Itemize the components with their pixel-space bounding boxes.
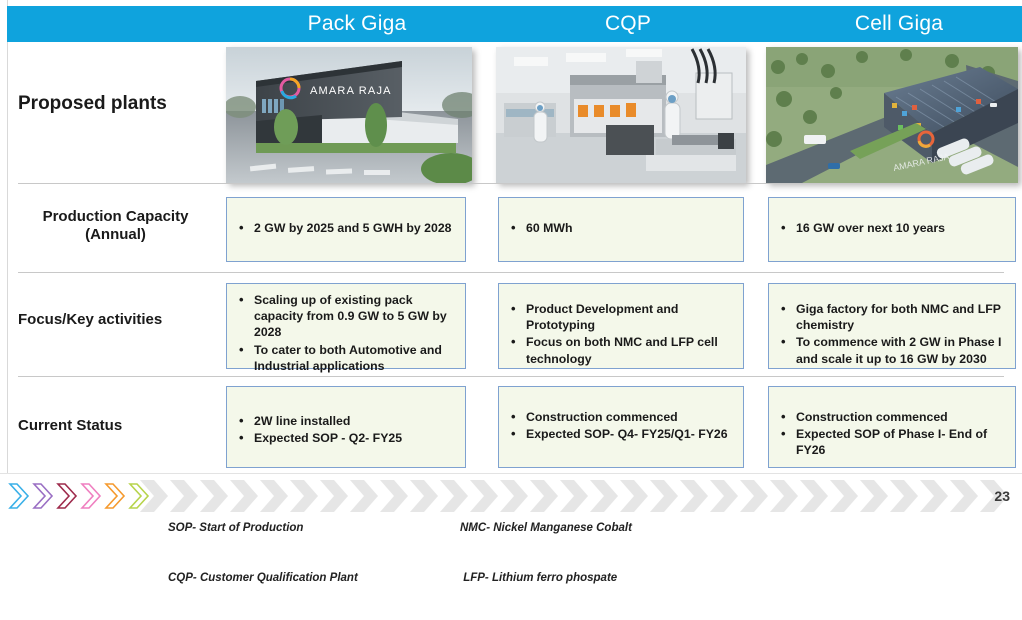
status-bullets-cqp: Construction commenced Expected SOP- Q4-… [509, 409, 735, 442]
status-cell-pack-giga: 2W line installed Expected SOP - Q2- FY2… [226, 386, 466, 468]
list-item: Expected SOP- Q4- FY25/Q1- FY26 [509, 426, 735, 442]
footnote-right: NMC- Nickel Manganese Cobalt LFP- Lithiu… [460, 487, 632, 620]
cell-giga-render: AMARA RAJA [766, 47, 1018, 183]
slide-root: Pack Giga CQP Cell Giga Proposed plants [0, 0, 1022, 518]
status-bullets-cell-giga: Construction commenced Expected SOP of P… [779, 409, 1007, 459]
row-label-current-status: Current Status [18, 417, 218, 435]
column-header-cell-giga: Cell Giga [769, 12, 1022, 36]
status-cell-cell-giga: Construction commenced Expected SOP of P… [768, 386, 1016, 468]
capacity-cell-cell-giga: 16 GW over next 10 years [768, 197, 1016, 262]
pack-giga-render: AMARA RAJA [226, 47, 472, 183]
capacity-cell-cqp: 60 MWh [498, 197, 744, 262]
focus-cell-cqp: Product Development and Prototyping Focu… [498, 283, 744, 369]
list-item: Expected SOP of Phase I- End of FY26 [779, 426, 1007, 458]
list-item: Giga factory for both NMC and LFP chemis… [779, 301, 1007, 333]
focus-cell-pack-giga: Scaling up of existing pack capacity fro… [226, 283, 466, 369]
photo-cqp-cleanroom [496, 47, 746, 183]
footnote-sop: SOP- Start of Production [168, 520, 358, 537]
column-header-pack-giga: Pack Giga [229, 12, 485, 36]
column-header-cqp: CQP [499, 12, 757, 36]
focus-bullets-cqp: Product Development and Prototyping Focu… [509, 301, 735, 367]
capacity-cell-pack-giga: 2 GW by 2025 and 5 GWH by 2028 [226, 197, 466, 262]
page-number: 23 [994, 488, 1010, 504]
brand-chevron-group [8, 482, 150, 510]
focus-cell-cell-giga: Giga factory for both NMC and LFP chemis… [768, 283, 1016, 369]
list-item: Focus on both NMC and LFP cell technolog… [509, 334, 735, 366]
list-item: 60 MWh [509, 220, 735, 236]
list-item: To commence with 2 GW in Phase I and sca… [779, 334, 1007, 366]
list-item: To cater to both Automotive and Industri… [237, 342, 457, 374]
capacity-bullets-pack-giga: 2 GW by 2025 and 5 GWH by 2028 [237, 220, 457, 236]
footnote-lfp: LFP- Lithium ferro phospate [460, 570, 632, 587]
svg-text:AMARA RAJA: AMARA RAJA [310, 85, 392, 97]
row-label-focus-key-activities: Focus/Key activities [18, 311, 218, 329]
footnote-nmc: NMC- Nickel Manganese Cobalt [460, 520, 632, 537]
chevron-icon-5 [104, 482, 126, 510]
focus-bullets-cell-giga: Giga factory for both NMC and LFP chemis… [779, 301, 1007, 367]
left-edge-strip [0, 0, 8, 518]
row-label-production-capacity-line2: (Annual) [18, 226, 213, 244]
footnote-cqp: CQP- Customer Qualification Plant [168, 570, 358, 587]
chevron-icon-4 [80, 482, 102, 510]
column-header-bar: Pack Giga CQP Cell Giga [7, 6, 1022, 42]
row-label-production-capacity: Production Capacity (Annual) [18, 208, 213, 245]
row-label-proposed-plants: Proposed plants [18, 92, 218, 115]
list-item: Construction commenced [779, 409, 1007, 425]
chevron-icon-6 [128, 482, 150, 510]
footnote-left: SOP- Start of Production CQP- Customer Q… [168, 487, 358, 620]
chevron-icon-3 [56, 482, 78, 510]
photo-cell-giga-factory: AMARA RAJA [766, 47, 1018, 183]
list-item: 16 GW over next 10 years [779, 220, 1007, 236]
list-item: Construction commenced [509, 409, 735, 425]
capacity-bullets-cell-giga: 16 GW over next 10 years [779, 220, 1007, 236]
row-label-production-capacity-line1: Production Capacity [18, 208, 213, 226]
chevron-icon-1 [8, 482, 30, 510]
status-cell-cqp: Construction commenced Expected SOP- Q4-… [498, 386, 744, 468]
list-item: 2 GW by 2025 and 5 GWH by 2028 [237, 220, 457, 236]
row-divider-2 [18, 272, 1004, 273]
chevron-icon-2 [32, 482, 54, 510]
list-item: Scaling up of existing pack capacity fro… [237, 292, 457, 341]
list-item: Product Development and Prototyping [509, 301, 735, 333]
status-bullets-pack-giga: 2W line installed Expected SOP - Q2- FY2… [237, 413, 457, 446]
list-item: 2W line installed [237, 413, 457, 429]
photo-pack-giga-plant: AMARA RAJA [226, 47, 472, 183]
capacity-bullets-cqp: 60 MWh [509, 220, 735, 236]
list-item: Expected SOP - Q2- FY25 [237, 430, 457, 446]
row-divider-1 [18, 183, 1004, 184]
cqp-cleanroom-photo [496, 47, 746, 183]
focus-bullets-pack-giga: Scaling up of existing pack capacity fro… [237, 292, 457, 374]
row-divider-3 [18, 376, 1004, 377]
